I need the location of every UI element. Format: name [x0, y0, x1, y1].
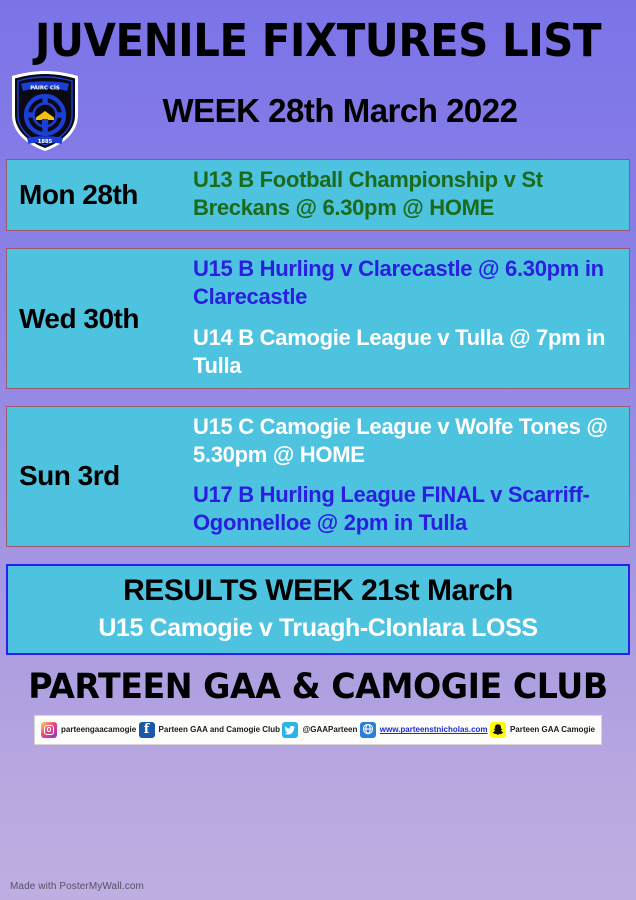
poster: JUVENILE FIXTURES LIST PÁIRC CÍS 1885	[0, 0, 636, 900]
fixture-row: Wed 30th U15 B Hurling v Clarecastle @ 6…	[6, 248, 630, 389]
fixture-row: Mon 28th U13 B Football Championship v S…	[6, 159, 630, 231]
social-handle: parteengaacamogie	[61, 725, 136, 734]
fixture-day-label: Sun 3rd	[11, 460, 193, 492]
social-item-snapchat[interactable]: Parteen GAA Camogie	[490, 722, 595, 738]
social-handle: @GAAParteen	[302, 725, 357, 734]
fixture-row: Sun 3rd U15 C Camogie League v Wolfe Ton…	[6, 406, 630, 547]
social-bar: parteengaacamogie f Parteen GAA and Camo…	[34, 715, 602, 745]
website-url[interactable]: www.parteenstnicholas.com	[380, 725, 488, 734]
fixture-entries: U15 B Hurling v Clarecastle @ 6.30pm in …	[193, 255, 625, 382]
page-title: JUVENILE FIXTURES LIST	[22, 18, 613, 63]
fixtures-list: Mon 28th U13 B Football Championship v S…	[0, 159, 636, 547]
social-item-twitter[interactable]: @GAAParteen	[282, 722, 357, 738]
fixture-entries: U13 B Football Championship v St Breckan…	[193, 166, 625, 224]
social-handle: Parteen GAA Camogie	[510, 725, 595, 734]
fixture-entry: U15 B Hurling v Clarecastle @ 6.30pm in …	[193, 255, 619, 311]
instagram-icon	[41, 722, 57, 738]
social-item-facebook[interactable]: f Parteen GAA and Camogie Club	[139, 722, 281, 738]
svg-text:PÁIRC CÍS: PÁIRC CÍS	[30, 83, 60, 91]
week-subtitle: WEEK 28th March 2022	[84, 92, 636, 130]
fixture-entry: U13 B Football Championship v St Breckan…	[193, 166, 619, 222]
fixture-entries: U15 C Camogie League v Wolfe Tones @ 5.3…	[193, 413, 625, 540]
subheader-row: PÁIRC CÍS 1885 WEEK 28th March 2022	[0, 69, 636, 153]
results-line: U15 Camogie v Truagh-Clonlara LOSS	[14, 614, 622, 643]
fixture-entry: U15 C Camogie League v Wolfe Tones @ 5.3…	[193, 413, 619, 469]
fixture-day-label: Wed 30th	[11, 303, 193, 335]
fixture-entry: U14 B Camogie League v Tulla @ 7pm in Tu…	[193, 324, 619, 380]
club-name: PARTEEN GAA & CAMOGIE CLUB	[16, 667, 620, 707]
facebook-icon: f	[139, 722, 155, 738]
watermark: Made with PosterMyWall.com	[10, 881, 144, 892]
fixture-day-label: Mon 28th	[11, 179, 193, 211]
poster-header: JUVENILE FIXTURES LIST PÁIRC CÍS 1885	[0, 0, 636, 159]
social-handle: Parteen GAA and Camogie Club	[159, 725, 281, 734]
snapchat-icon	[490, 722, 506, 738]
fixture-entry: U17 B Hurling League FINAL v Scarriff-Og…	[193, 481, 619, 537]
results-title: RESULTS WEEK 21st March	[14, 574, 622, 609]
results-section: RESULTS WEEK 21st March U15 Camogie v Tr…	[6, 564, 630, 655]
twitter-icon	[282, 722, 298, 738]
svg-text:1885: 1885	[38, 139, 53, 145]
club-crest-icon: PÁIRC CÍS 1885	[6, 69, 84, 153]
social-item-website[interactable]: www.parteenstnicholas.com	[360, 722, 488, 738]
website-icon	[360, 722, 376, 738]
social-item-instagram[interactable]: parteengaacamogie	[41, 722, 136, 738]
